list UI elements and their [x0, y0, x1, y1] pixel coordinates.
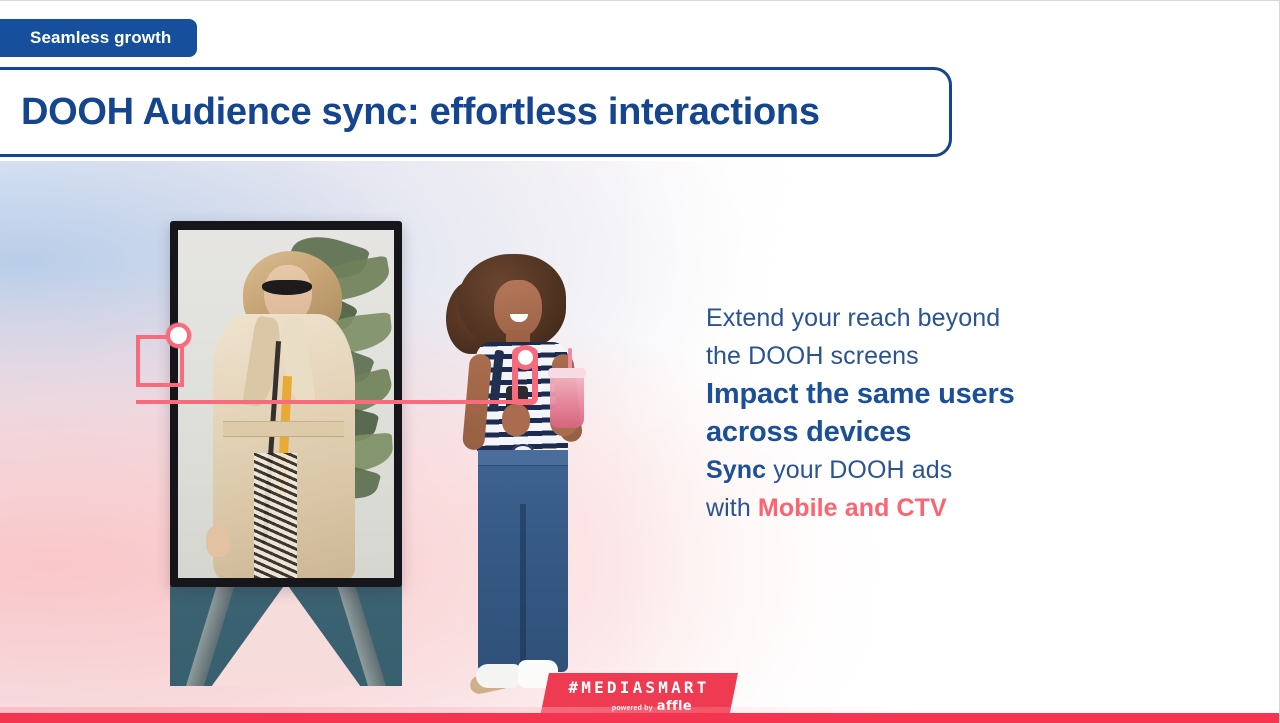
billboard-ad-model-belt	[223, 421, 344, 437]
person-illustration	[440, 254, 600, 723]
copy-lead-line2: the DOOH screens	[706, 342, 919, 370]
person-shoe-left	[476, 664, 520, 688]
mediasmart-wordmark: #MEDIASMART	[568, 679, 709, 697]
bottom-accent-bar	[0, 713, 1280, 723]
billboard-ad-model-hand	[206, 526, 230, 557]
person-jeans-seam	[520, 504, 526, 672]
smoothie-cup-lid	[548, 368, 586, 378]
eyebrow-badge: Seamless growth	[0, 19, 197, 57]
dooh-billboard	[170, 221, 402, 587]
copy-tail-rest2: with	[706, 494, 758, 522]
copy-tail-accent: Mobile and CTV	[758, 494, 947, 522]
page-title: DOOH Audience sync: effortless interacti…	[0, 91, 820, 134]
eyebrow-badge-label: Seamless growth	[30, 28, 171, 48]
slide-artwork-stage: Extend your reach beyond the DOOH screen…	[0, 159, 1280, 723]
slide-title-box: DOOH Audience sync: effortless interacti…	[0, 67, 952, 157]
copy-headline-line1: Impact the same users	[706, 378, 1015, 410]
smoothie-cup	[550, 374, 584, 428]
copy-lead: Extend your reach beyond the DOOH screen…	[706, 299, 1126, 375]
person-hand-left	[502, 404, 530, 436]
slide-canvas: Extend your reach beyond the DOOH screen…	[0, 0, 1280, 723]
billboard-stand-notch	[212, 583, 360, 686]
sunglasses-icon	[262, 280, 312, 295]
copy-tail-rest1: your DOOH ads	[766, 456, 952, 484]
copy-tail: Sync your DOOH ads with Mobile and CTV	[706, 451, 1126, 527]
value-proposition-copy: Extend your reach beyond the DOOH screen…	[706, 299, 1126, 527]
person-jeans-waistband	[478, 450, 568, 466]
billboard-screen	[178, 230, 394, 578]
copy-tail-strong: Sync	[706, 456, 766, 484]
billboard-ad-model-skirt	[254, 453, 297, 578]
copy-headline: Impact the same users across devices	[706, 375, 1126, 451]
copy-lead-line1: Extend your reach beyond	[706, 304, 1000, 332]
slide-header: Seamless growth DOOH Audience sync: effo…	[0, 1, 1280, 161]
billboard-stand	[170, 583, 402, 686]
copy-headline-line2: across devices	[706, 416, 911, 448]
